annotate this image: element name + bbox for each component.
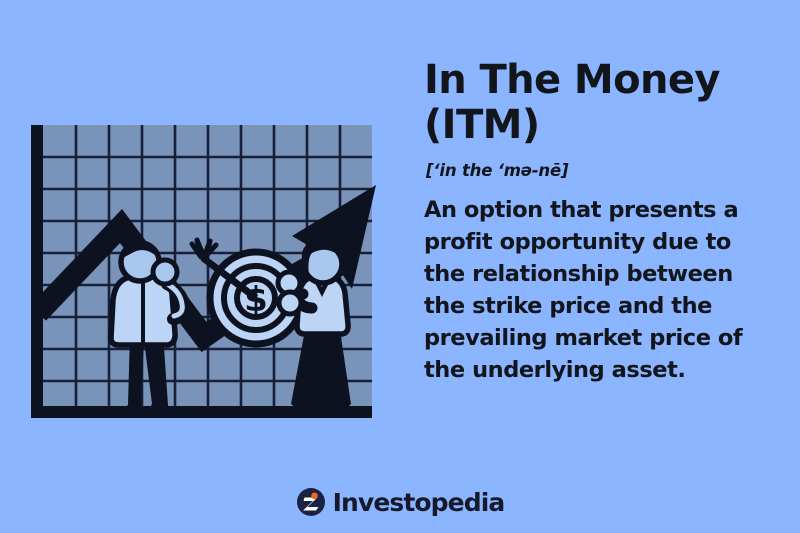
page-title: In The Money (ITM) bbox=[424, 58, 784, 148]
definition-text: An option that presents a profit opportu… bbox=[424, 194, 774, 386]
investopedia-logo-icon bbox=[296, 487, 326, 517]
infographic-page: $ bbox=[0, 0, 800, 533]
stock-chart-illustration: $ bbox=[0, 0, 400, 470]
definition-panel: In The Money (ITM) [‘in the ‘mə-nē] An o… bbox=[424, 58, 784, 386]
pronunciation-text: [‘in the ‘mə-nē] bbox=[426, 161, 784, 180]
svg-text:$: $ bbox=[244, 280, 268, 320]
investopedia-wordmark: Investopedia bbox=[333, 490, 505, 515]
investopedia-logo[interactable]: Investopedia bbox=[0, 487, 800, 517]
